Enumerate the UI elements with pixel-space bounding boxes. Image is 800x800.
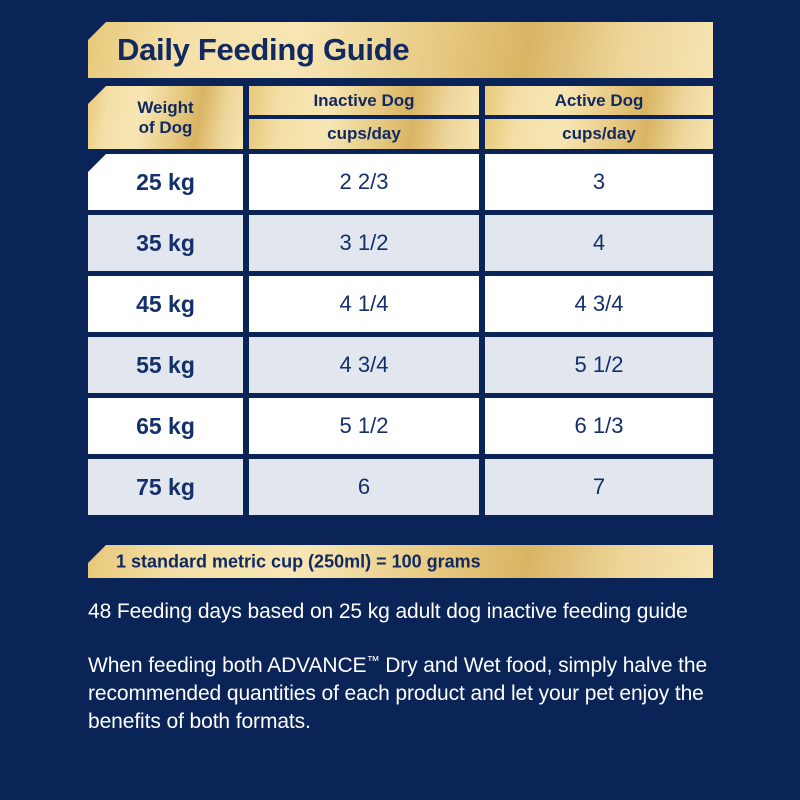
cell-active: 3 <box>485 154 713 210</box>
cell-active: 4 3/4 <box>485 276 713 332</box>
cell-active: 6 1/3 <box>485 398 713 454</box>
table-row: 25 kg 2 2/3 3 <box>88 154 713 210</box>
title-banner: Daily Feeding Guide <box>88 22 713 78</box>
table-row: 35 kg 3 1/2 4 <box>88 215 713 271</box>
cup-conversion-text: 1 standard metric cup (250ml) = 100 gram… <box>116 551 481 572</box>
header-weight-of-dog: Weight of Dog <box>88 86 243 149</box>
table-header-row: Weight of Dog Inactive Dog cups/day Acti… <box>88 86 713 149</box>
header-weight-line-2: of Dog <box>139 118 193 137</box>
cell-active: 4 <box>485 215 713 271</box>
cell-active: 7 <box>485 459 713 515</box>
cell-inactive: 4 1/4 <box>249 276 479 332</box>
cell-inactive: 5 1/2 <box>249 398 479 454</box>
trademark-icon: ™ <box>366 653 379 668</box>
header-active-dog-group: Active Dog cups/day <box>485 86 713 149</box>
cell-inactive: 2 2/3 <box>249 154 479 210</box>
feeding-table: Weight of Dog Inactive Dog cups/day Acti… <box>88 86 713 515</box>
cell-weight: 35 kg <box>88 215 243 271</box>
header-inactive-dog: Inactive Dog <box>249 86 479 115</box>
page-title: Daily Feeding Guide <box>117 32 409 68</box>
header-inactive-dog-group: Inactive Dog cups/day <box>249 86 479 149</box>
cup-conversion-banner: 1 standard metric cup (250ml) = 100 gram… <box>88 545 713 578</box>
cell-weight: 55 kg <box>88 337 243 393</box>
cell-inactive: 4 3/4 <box>249 337 479 393</box>
header-active-dog-units: cups/day <box>485 119 713 149</box>
cell-weight: 25 kg <box>88 154 243 210</box>
header-inactive-dog-units: cups/day <box>249 119 479 149</box>
feeding-guide-card: Daily Feeding Guide Weight of Dog Inacti… <box>0 0 800 800</box>
note-feeding-days: 48 Feeding days based on 25 kg adult dog… <box>88 598 718 626</box>
header-active-dog: Active Dog <box>485 86 713 115</box>
table-row: 55 kg 4 3/4 5 1/2 <box>88 337 713 393</box>
cell-inactive: 6 <box>249 459 479 515</box>
cell-weight: 65 kg <box>88 398 243 454</box>
cell-active: 5 1/2 <box>485 337 713 393</box>
cell-weight: 45 kg <box>88 276 243 332</box>
notes-section: 48 Feeding days based on 25 kg adult dog… <box>88 598 718 736</box>
table-row: 65 kg 5 1/2 6 1/3 <box>88 398 713 454</box>
cell-weight: 75 kg <box>88 459 243 515</box>
note-dry-and-wet: When feeding both ADVANCE™ Dry and Wet f… <box>88 652 718 736</box>
note-dry-and-wet-before: When feeding both ADVANCE <box>88 654 366 677</box>
table-row: 45 kg 4 1/4 4 3/4 <box>88 276 713 332</box>
header-weight-line-1: Weight <box>137 98 193 117</box>
cell-inactive: 3 1/2 <box>249 215 479 271</box>
table-row: 75 kg 6 7 <box>88 459 713 515</box>
